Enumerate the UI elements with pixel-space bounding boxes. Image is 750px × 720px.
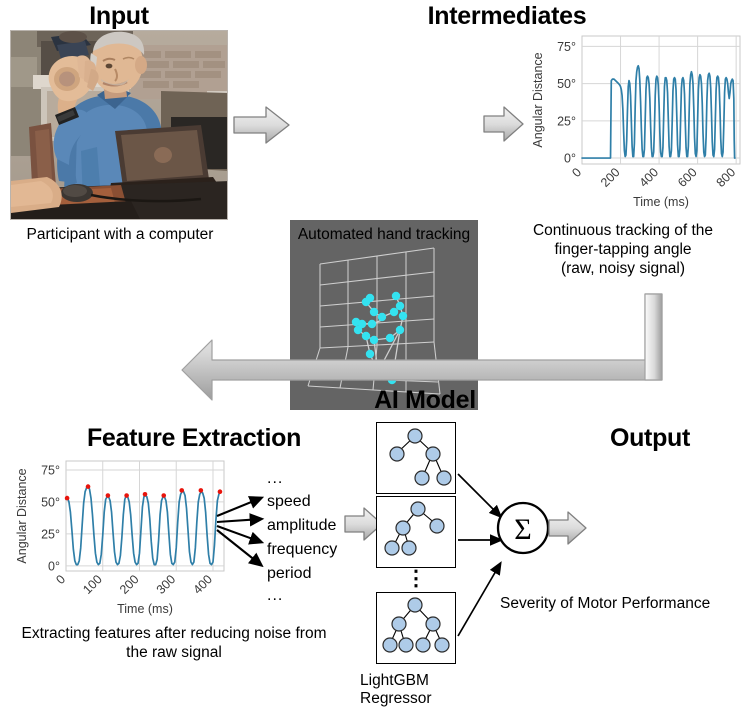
figure-root: Input <box>0 0 750 720</box>
x-tick-label: 200 <box>598 165 623 190</box>
peak-marker <box>86 484 91 489</box>
input-section-title: Input <box>10 2 228 31</box>
raw-signal-chart: 0°25°50°75°0200400600800Time (ms)Angular… <box>516 28 750 213</box>
y-axis-label: Angular Distance <box>15 468 29 563</box>
feature-ellipsis-top: ... <box>267 470 337 488</box>
feature-label-speed: speed <box>267 494 337 510</box>
peak-marker <box>106 493 111 498</box>
x-tick-label: 0 <box>569 165 584 180</box>
peak-marker <box>143 492 148 497</box>
feature-label-amplitude: amplitude <box>267 518 337 534</box>
decision-tree-box-2 <box>376 496 456 568</box>
feature-label-frequency: frequency <box>267 542 337 558</box>
continuous-tracking-caption: Continuous tracking of the finger-tappin… <box>496 222 750 279</box>
continuous-tracking-caption-text: Continuous tracking of the finger-tappin… <box>496 222 750 279</box>
feature-extraction-caption-text: Extracting features after reducing noise… <box>0 625 348 663</box>
feature-label-period: period <box>267 566 337 582</box>
y-tick-label: 0° <box>48 559 60 573</box>
x-tick-label: 400 <box>637 165 662 190</box>
participant-photo-illustration <box>11 31 228 220</box>
block-arrow-right-icon-1 <box>233 104 291 146</box>
participant-photo <box>10 30 228 220</box>
x-axis-label: Time (ms) <box>633 195 689 209</box>
model-name-text: LightGBM Regressor <box>360 672 472 709</box>
hand-tracking-caption: Automated hand tracking <box>276 226 492 245</box>
decision-tree-2 <box>377 497 455 567</box>
y-tick-label: 50° <box>557 77 576 91</box>
block-arrow-right-icon-4 <box>548 509 588 547</box>
ai-model-section-title: AI Model <box>355 386 495 415</box>
smoothed-signal-chart: 0°25°50°75°0100200300400Time (ms)Angular… <box>0 455 236 620</box>
peak-marker <box>124 493 129 498</box>
x-tick-label: 200 <box>117 572 142 597</box>
summation-node: Σ <box>495 500 551 556</box>
feature-label-list: ... speed amplitude frequency period ... <box>267 470 337 605</box>
x-tick-label: 100 <box>80 572 105 597</box>
sigma-node-svg: Σ <box>495 500 551 556</box>
y-tick-label: 25° <box>557 114 576 128</box>
peak-marker <box>161 493 166 498</box>
feature-extraction-section-title: Feature Extraction <box>70 424 318 453</box>
y-tick-label: 0° <box>564 152 576 166</box>
y-tick-label: 75° <box>557 40 576 54</box>
raw-signal-chart-svg: 0°25°50°75°0200400600800Time (ms)Angular… <box>516 28 750 213</box>
y-axis-label: Angular Distance <box>531 52 545 147</box>
plot-frame <box>66 461 224 571</box>
tree-vertical-dots: ⋮ <box>376 572 456 586</box>
x-tick-label: 400 <box>190 572 215 597</box>
smoothed-signal-chart-svg: 0°25°50°75°0100200300400Time (ms)Angular… <box>0 455 236 620</box>
x-axis-label: Time (ms) <box>117 602 173 616</box>
peak-marker <box>65 496 70 501</box>
peak-marker <box>199 488 204 493</box>
y-tick-label: 50° <box>41 495 60 509</box>
decision-tree-box-1 <box>376 422 456 494</box>
feature-ellipsis-bottom: ... <box>267 587 337 605</box>
tree-continuation-dots: ⋮ <box>376 572 456 586</box>
sigma-symbol: Σ <box>514 513 531 546</box>
y-tick-label: 25° <box>41 527 60 541</box>
output-section-title: Output <box>560 424 740 453</box>
model-name-label: LightGBM Regressor <box>360 672 472 709</box>
x-tick-label: 800 <box>714 165 739 190</box>
intermediates-section-title: Intermediates <box>402 2 612 31</box>
decision-tree-3 <box>377 593 455 663</box>
peak-marker <box>179 488 184 493</box>
feature-extraction-caption: Extracting features after reducing noise… <box>0 625 348 663</box>
severity-caption: Severity of Motor Performance <box>500 595 750 614</box>
x-tick-label: 300 <box>154 572 179 597</box>
x-tick-label: 600 <box>675 165 700 190</box>
decision-tree-1 <box>377 423 455 493</box>
participant-photo-caption: Participant with a computer <box>0 226 240 245</box>
decision-tree-box-3 <box>376 592 456 664</box>
x-tick-label: 0 <box>53 572 68 587</box>
y-tick-label: 75° <box>41 463 60 477</box>
